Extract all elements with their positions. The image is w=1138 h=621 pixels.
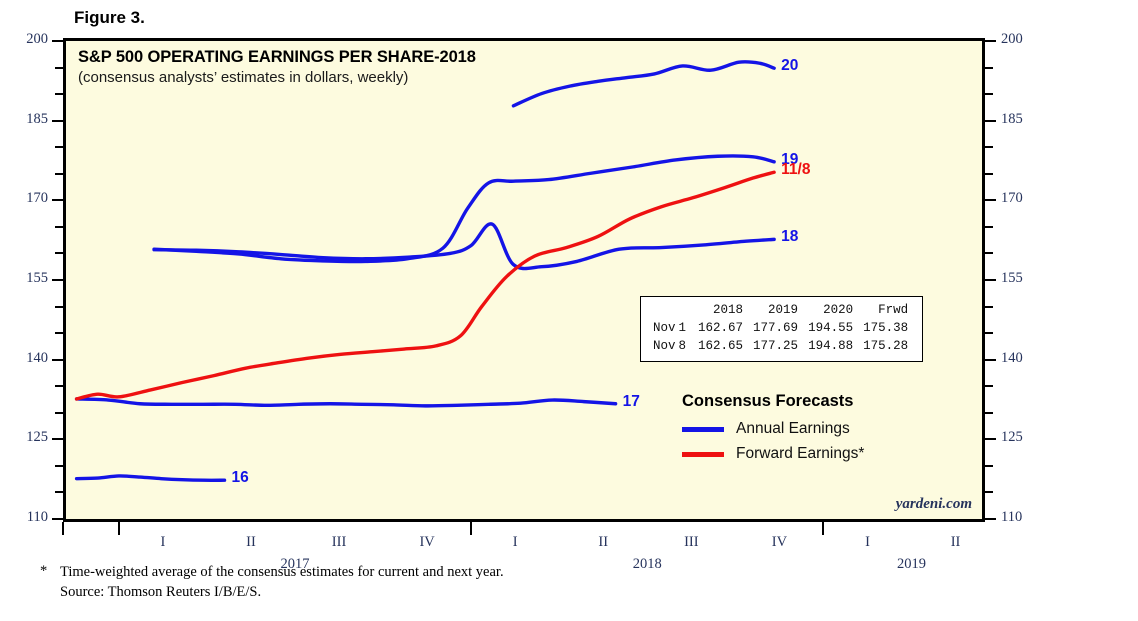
y-minor-tick-right-120 [985,465,993,467]
y-major-tick-right-170 [985,199,996,201]
y-major-tick-110 [52,518,63,520]
series-line-18 [154,224,774,269]
y-minor-tick-right-135 [985,385,993,387]
y-axis-label-left-170: 170 [0,190,48,207]
legend-line-swatch [682,427,724,432]
table-header-2019: 2019 [748,302,803,320]
y-minor-tick-190 [55,93,63,95]
y-axis-label-right-185: 185 [1001,111,1023,128]
y-minor-tick-130 [55,412,63,414]
legend-title: Consensus Forecasts [682,392,864,411]
y-axis-label-left-125: 125 [0,429,48,446]
x-axis-start-tick [62,522,64,535]
y-axis-label-left-185: 185 [0,111,48,128]
y-minor-tick-135 [55,385,63,387]
y-axis-label-right-155: 155 [1001,270,1023,287]
footnote-asterisk: * [40,563,60,583]
y-minor-tick-right-145 [985,332,993,334]
table-cell-value: 194.88 [803,338,858,356]
y-axis-label-left-155: 155 [0,270,48,287]
legend-rows: Annual EarningsForward Earnings* [682,420,864,463]
y-minor-tick-165 [55,226,63,228]
y-minor-tick-145 [55,332,63,334]
y-major-tick-right-155 [985,279,996,281]
table-cell-value: 162.67 [693,320,748,338]
y-major-tick-140 [52,359,63,361]
series-tag-17: 17 [623,393,640,411]
series-line-20 [513,62,774,106]
series-tag-11-8: 11/8 [781,161,810,179]
series-line-17 [77,399,616,406]
table-cell-value: 177.25 [748,338,803,356]
y-minor-tick-right-175 [985,173,993,175]
y-major-tick-155 [52,279,63,281]
x-quarter-label-6: III [671,534,711,551]
watermark-yardeni: yardeni.com [896,496,972,513]
table-cell-day: 8 [678,338,694,356]
footnote-spacer [40,583,60,603]
y-minor-tick-right-130 [985,412,993,414]
table-cell-month: Nov [648,338,678,356]
y-minor-tick-right-195 [985,67,993,69]
series-tag-20: 20 [781,57,798,75]
x-year-divider-2018 [470,522,472,535]
table-cell-value: 175.28 [858,338,913,356]
table-cell-value: 162.65 [693,338,748,356]
y-axis-label-right-140: 140 [1001,350,1023,367]
x-year-label-2019: 2019 [884,556,940,573]
y-minor-tick-115 [55,491,63,493]
x-year-divider-2017 [118,522,120,535]
series-line-16 [77,476,225,480]
table-row: Nov1162.67177.69194.55175.38 [648,320,913,338]
y-major-tick-200 [52,40,63,42]
chart-legend: Consensus Forecasts Annual EarningsForwa… [682,392,864,470]
x-quarter-label-2: III [319,534,359,551]
table-header-Frwd: Frwd [858,302,913,320]
footnotes: * Time-weighted average of the consensus… [40,563,504,602]
table-cell-value: 177.69 [748,320,803,338]
y-minor-tick-right-180 [985,146,993,148]
y-major-tick-125 [52,438,63,440]
y-minor-tick-160 [55,252,63,254]
x-quarter-label-1: II [231,534,271,551]
y-major-tick-right-200 [985,40,996,42]
forecast-data-table: 201820192020FrwdNov1162.67177.69194.5517… [640,296,923,362]
footnote-row-2: Source: Thomson Reuters I/B/E/S. [40,583,504,603]
figure-label: Figure 3. [74,8,145,28]
footnote-row-1: * Time-weighted average of the consensus… [40,563,504,583]
y-minor-tick-right-165 [985,226,993,228]
y-major-tick-right-110 [985,518,996,520]
y-minor-tick-150 [55,306,63,308]
y-axis-label-left-110: 110 [0,509,48,526]
y-minor-tick-180 [55,146,63,148]
table-header-blank-1 [678,302,694,320]
x-year-label-2018: 2018 [619,556,675,573]
x-year-divider-2019 [822,522,824,535]
x-quarter-label-9: II [936,534,976,551]
x-quarter-label-4: I [495,534,535,551]
x-quarter-label-0: I [143,534,183,551]
x-quarter-label-5: II [583,534,623,551]
y-minor-tick-195 [55,67,63,69]
table-cell-value: 194.55 [803,320,858,338]
table-row: Nov8162.65177.25194.88175.28 [648,338,913,356]
y-axis-label-right-110: 110 [1001,509,1022,526]
x-quarter-label-3: IV [407,534,447,551]
footnote-text-1: Time-weighted average of the consensus e… [60,563,504,583]
series-tag-18: 18 [781,228,798,246]
x-quarter-label-7: IV [759,534,799,551]
y-axis-label-left-200: 200 [0,31,48,48]
table-header-row: 201820192020Frwd [648,302,913,320]
y-minor-tick-120 [55,465,63,467]
y-axis-label-right-125: 125 [1001,429,1023,446]
footnote-source: Source: Thomson Reuters I/B/E/S. [60,583,261,603]
y-minor-tick-right-160 [985,252,993,254]
y-axis-label-left-140: 140 [0,350,48,367]
y-minor-tick-right-115 [985,491,993,493]
legend-item-1: Forward Earnings* [682,445,864,463]
forecast-table: 201820192020FrwdNov1162.67177.69194.5517… [648,302,913,355]
y-major-tick-170 [52,199,63,201]
y-axis-label-right-200: 200 [1001,31,1023,48]
y-axis-label-right-170: 170 [1001,190,1023,207]
y-major-tick-185 [52,120,63,122]
table-cell-day: 1 [678,320,694,338]
legend-label: Annual Earnings [736,420,850,438]
y-major-tick-right-140 [985,359,996,361]
y-minor-tick-right-150 [985,306,993,308]
y-major-tick-right-185 [985,120,996,122]
table-header-blank-0 [648,302,678,320]
x-quarter-label-8: I [848,534,888,551]
legend-label: Forward Earnings* [736,445,864,463]
table-cell-value: 175.38 [858,320,913,338]
y-minor-tick-175 [55,173,63,175]
legend-item-0: Annual Earnings [682,420,864,438]
series-tag-16: 16 [232,469,249,487]
legend-line-swatch [682,452,724,457]
series-line-11/8 [77,172,775,399]
y-major-tick-right-125 [985,438,996,440]
table-header-2018: 2018 [693,302,748,320]
table-header-2020: 2020 [803,302,858,320]
y-minor-tick-right-190 [985,93,993,95]
table-cell-month: Nov [648,320,678,338]
